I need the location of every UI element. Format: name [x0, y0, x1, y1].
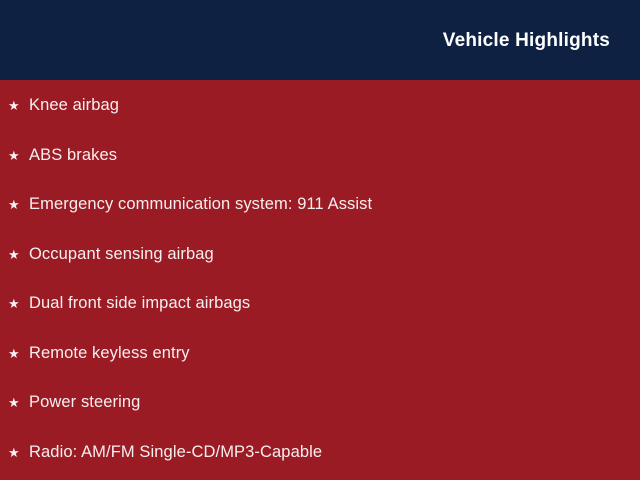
star-bullet-icon: ★: [8, 297, 29, 310]
star-bullet-icon: ★: [8, 446, 29, 459]
list-item: ★ Knee airbag: [8, 97, 640, 147]
star-bullet-icon: ★: [8, 347, 29, 360]
star-bullet-icon: ★: [8, 198, 29, 211]
list-item-label: Occupant sensing airbag: [29, 246, 214, 263]
vehicle-highlights-list: ★ Knee airbag ★ ABS brakes ★ Emergency c…: [8, 97, 640, 480]
list-item: ★ Radio: AM/FM Single-CD/MP3-Capable: [8, 444, 640, 480]
star-bullet-icon: ★: [8, 99, 29, 112]
vehicle-highlights-slide: Vehicle Highlights ★ Knee airbag ★ ABS b…: [0, 0, 640, 480]
list-item: ★ ABS brakes: [8, 147, 640, 197]
list-item: ★ Emergency communication system: 911 As…: [8, 196, 640, 246]
list-item-label: Radio: AM/FM Single-CD/MP3-Capable: [29, 444, 322, 461]
list-item-label: Dual front side impact airbags: [29, 295, 250, 312]
list-item-label: Emergency communication system: 911 Assi…: [29, 196, 372, 213]
slide-header: Vehicle Highlights: [0, 0, 640, 80]
page-title: Vehicle Highlights: [443, 31, 610, 50]
list-item: ★ Remote keyless entry: [8, 345, 640, 395]
list-item-label: ABS brakes: [29, 147, 117, 164]
list-item: ★ Dual front side impact airbags: [8, 295, 640, 345]
highlights-panel: ★ Knee airbag ★ ABS brakes ★ Emergency c…: [0, 80, 640, 480]
list-item-label: Power steering: [29, 394, 140, 411]
list-item-label: Remote keyless entry: [29, 345, 190, 362]
star-bullet-icon: ★: [8, 396, 29, 409]
star-bullet-icon: ★: [8, 149, 29, 162]
star-bullet-icon: ★: [8, 248, 29, 261]
list-item: ★ Occupant sensing airbag: [8, 246, 640, 296]
list-item-label: Knee airbag: [29, 97, 119, 114]
list-item: ★ Power steering: [8, 394, 640, 444]
